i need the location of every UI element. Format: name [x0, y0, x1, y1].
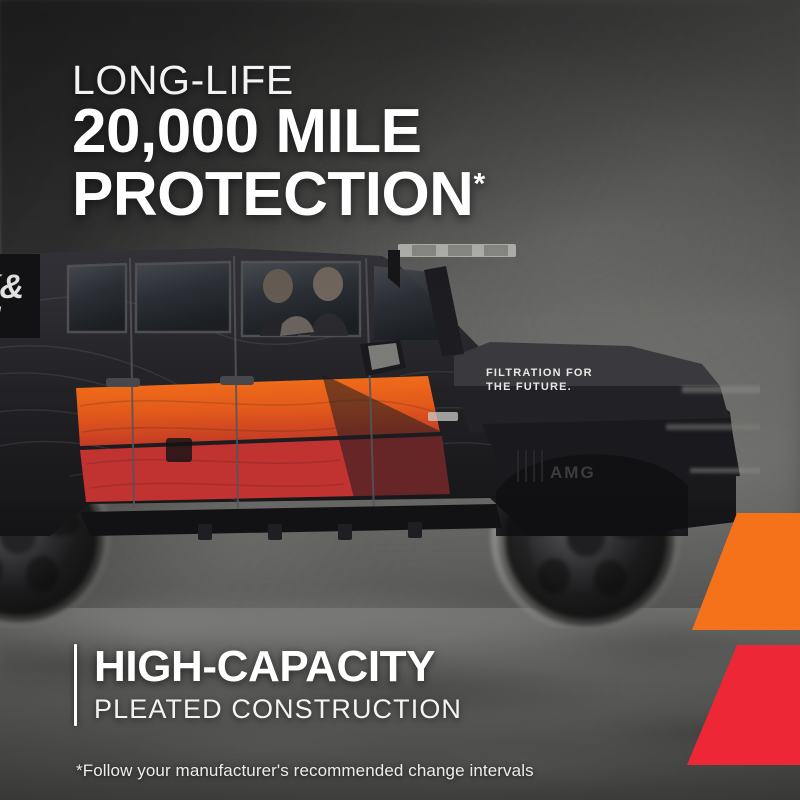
headline-block: LONG-LIFE 20,000 MILE PROTECTION* — [72, 58, 692, 225]
subhead-primary: HIGH-CAPACITY — [94, 644, 462, 690]
parallelogram-red-icon — [687, 645, 800, 765]
promo-banner: K& N — [0, 0, 800, 800]
corner-brand-shapes — [680, 500, 800, 800]
subhead-secondary: PLEATED CONSTRUCTION — [94, 692, 462, 726]
parallelogram-orange-icon — [692, 513, 800, 630]
headline-line-1: 20,000 MILE — [72, 102, 692, 162]
vertical-rule-icon — [74, 644, 77, 726]
headline-line-2-text: PROTECTION — [72, 160, 473, 229]
headline-kicker: LONG-LIFE — [72, 58, 692, 102]
subhead-text-group: HIGH-CAPACITY PLEATED CONSTRUCTION — [94, 644, 462, 726]
footnote-disclaimer: *Follow your manufacturer's recommended … — [76, 760, 534, 782]
headline-asterisk: * — [473, 167, 484, 200]
subhead-block: HIGH-CAPACITY PLEATED CONSTRUCTION — [74, 644, 462, 726]
headline-line-2: PROTECTION* — [72, 165, 692, 225]
